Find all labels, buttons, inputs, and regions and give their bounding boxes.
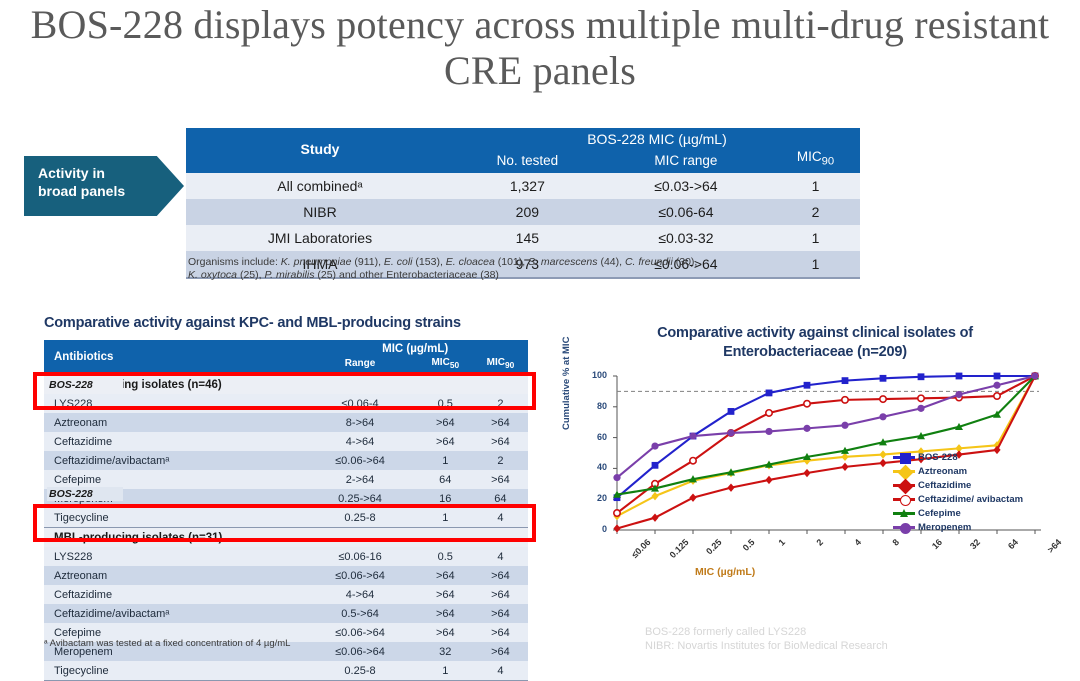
callout-line-2: broad panels <box>38 182 174 200</box>
legend-label: Cefepime <box>918 508 961 519</box>
mic50-cell: >64 <box>418 604 473 623</box>
slide-footer: BOS-228 formerly called LYS228 NIBR: Nov… <box>645 625 888 653</box>
legend-label: BOS-228 <box>918 452 958 463</box>
sticker-bos228-kpc: BOS-228 <box>47 378 123 392</box>
mic50-cell: >64 <box>418 585 473 604</box>
cumulative-mic-chart: Cumulative % at MIC MIC (µg/mL) 02040608… <box>575 368 1050 583</box>
legend-item: Meropenem <box>893 520 1023 534</box>
chart-y-axis-label: Cumulative % at MIC <box>561 337 572 430</box>
legend-swatch <box>893 456 915 459</box>
antibiotic-name-cell: Ceftazidime/avibactamᵃ <box>44 451 302 470</box>
mic50-cell: 0.5 <box>418 547 473 566</box>
legend-item: Ceftazidime <box>893 478 1023 492</box>
y-tick-label: 60 <box>583 432 607 442</box>
broad-panel-table-head: Study BOS-228 MIC (µg/mL) No. tested MIC… <box>186 128 860 173</box>
col-group-mic: MIC (µg/mL) <box>302 340 528 355</box>
legend-item: Cefepime <box>893 506 1023 520</box>
antibiotic-name-cell: Tigecycline <box>44 661 302 681</box>
mic90-cell: >64 <box>473 642 528 661</box>
mic90-cell: >64 <box>473 470 528 489</box>
legend-swatch <box>893 484 915 487</box>
study-cell: All combinedᵃ <box>186 173 454 199</box>
table-row: Aztreonam≤0.06->64>64>64 <box>44 566 528 585</box>
range-cell: ≤0.06->64 <box>302 566 417 585</box>
col-study: Study <box>186 128 454 173</box>
sticker-bos228-mbl: BOS-228 <box>47 487 123 501</box>
page-title: BOS-228 displays potency across multiple… <box>0 2 1080 94</box>
highlight-box-mbl-section <box>33 504 536 542</box>
legend-item: Aztreonam <box>893 464 1023 478</box>
study-cell: JMI Laboratories <box>186 225 454 251</box>
range-cell: 4->64 <box>302 585 417 604</box>
left-panel-heading: Comparative activity against KPC- and MB… <box>44 315 544 331</box>
study-cell: NIBR <box>186 199 454 225</box>
mic90-cell: 4 <box>473 547 528 566</box>
tested-cell: 145 <box>454 225 601 251</box>
mic50-cell: >64 <box>418 432 473 451</box>
table-row: JMI Laboratories145≤0.03-321 <box>186 225 860 251</box>
mic90-cell: >64 <box>473 623 528 642</box>
mic90-cell: >64 <box>473 413 528 432</box>
mic90-cell: >64 <box>473 604 528 623</box>
legend-label: Ceftazidime/ avibactam <box>918 494 1023 505</box>
chart-title-line-2: Enterobacteriaceae (n=209) <box>600 343 1030 362</box>
antibiotic-name-cell: Ceftazidime <box>44 432 302 451</box>
organisms-note-line-1: Organisms include: K. pneumoniae (911), … <box>188 256 828 269</box>
footer-line-1: BOS-228 formerly called LYS228 <box>645 625 888 639</box>
table-row: Tigecycline0.25-814 <box>44 661 528 681</box>
mic90-cell: 2 <box>473 451 528 470</box>
table-row: Ceftazidime/avibactamᵃ0.5->64>64>64 <box>44 604 528 623</box>
legend-label: Ceftazidime <box>918 480 971 491</box>
kpc-mbl-header-row-1: Antibiotics MIC (µg/mL) <box>44 340 528 355</box>
broad-panel-header-row-1: Study BOS-228 MIC (µg/mL) <box>186 128 860 147</box>
legend-label: Aztreonam <box>918 466 967 477</box>
mic50-cell: 32 <box>418 642 473 661</box>
kpc-mbl-table-head: Antibiotics MIC (µg/mL) Range MIC50 MIC9… <box>44 340 528 375</box>
legend-item: Ceftazidime/ avibactam <box>893 492 1023 506</box>
avibactam-footnote: ᵃ Avibactam was tested at a fixed concen… <box>44 638 290 649</box>
range-cell: ≤0.06->64 <box>302 623 417 642</box>
tested-cell: 209 <box>454 199 601 225</box>
range-cell: ≤0.06-16 <box>302 547 417 566</box>
table-row: Aztreonam8->64>64>64 <box>44 413 528 432</box>
range-cell: ≤0.03-32 <box>601 225 771 251</box>
range-cell: 0.25-8 <box>302 661 417 681</box>
mic90-cell: >64 <box>473 566 528 585</box>
y-tick-label: 40 <box>583 462 607 472</box>
range-cell: 2->64 <box>302 470 417 489</box>
mic90-cell: 1 <box>771 173 860 199</box>
antibiotic-name-cell: Ceftazidime <box>44 585 302 604</box>
callout-line-1: Activity in <box>38 164 174 182</box>
col-mic-range: MIC range <box>601 147 771 173</box>
y-tick-label: 20 <box>583 493 607 503</box>
organisms-note-line-2: K. oxytoca (25), P. mirabilis (25) and o… <box>188 269 828 282</box>
mic90-cell: >64 <box>473 585 528 604</box>
table-row: NIBR209≤0.06-642 <box>186 199 860 225</box>
mic50-cell: >64 <box>418 413 473 432</box>
chart-legend: BOS-228AztreonamCeftazidimeCeftazidime/ … <box>893 450 1023 534</box>
legend-label: Meropenem <box>918 522 971 533</box>
mic50-cell: >64 <box>418 566 473 585</box>
callout-badge-activity-broad-panels: Activity in broad panels <box>24 156 184 216</box>
mic50-cell: 1 <box>418 451 473 470</box>
antibiotic-name-cell: LYS228 <box>44 547 302 566</box>
tested-cell: 1,327 <box>454 173 601 199</box>
y-tick-label: 80 <box>583 401 607 411</box>
chart-title: Comparative activity against clinical is… <box>600 324 1030 362</box>
y-tick-label: 0 <box>583 524 607 534</box>
footer-line-2: NIBR: Novartis Institutes for BioMedical… <box>645 639 888 653</box>
legend-swatch <box>893 470 915 473</box>
legend-marker <box>900 495 911 506</box>
range-cell: ≤0.03->64 <box>601 173 771 199</box>
range-cell: 8->64 <box>302 413 417 432</box>
mic50-cell: >64 <box>418 623 473 642</box>
mic90-cell: 2 <box>771 199 860 225</box>
col-mic90: MIC90 <box>771 147 860 173</box>
range-cell: 0.5->64 <box>302 604 417 623</box>
organisms-note: Organisms include: K. pneumoniae (911), … <box>188 256 828 282</box>
antibiotic-name-cell: Ceftazidime/avibactamᵃ <box>44 604 302 623</box>
legend-marker <box>900 453 911 464</box>
antibiotic-name-cell: Aztreonam <box>44 413 302 432</box>
y-tick-label: 100 <box>583 370 607 380</box>
table-row: Ceftazidime/avibactamᵃ≤0.06->6412 <box>44 451 528 470</box>
mic50-cell: 1 <box>418 661 473 681</box>
range-cell: ≤0.06->64 <box>302 642 417 661</box>
legend-item: BOS-228 <box>893 450 1023 464</box>
mic90-cell: >64 <box>473 432 528 451</box>
chart-title-line-1: Comparative activity against clinical is… <box>600 324 1030 343</box>
legend-swatch <box>893 498 915 501</box>
mic90-cell: 1 <box>771 225 860 251</box>
range-cell: 4->64 <box>302 432 417 451</box>
col-group-bos228-mic: BOS-228 MIC (µg/mL) <box>454 128 860 147</box>
table-row: All combinedᵃ1,327≤0.03->641 <box>186 173 860 199</box>
legend-swatch <box>893 526 915 529</box>
col-no-tested: No. tested <box>454 147 601 173</box>
legend-marker <box>900 509 908 517</box>
col-antibiotics: Antibiotics <box>44 340 302 375</box>
table-row: LYS228≤0.06-160.54 <box>44 547 528 566</box>
range-cell: ≤0.06-64 <box>601 199 771 225</box>
mic90-cell: 4 <box>473 661 528 681</box>
chart-x-axis-label: MIC (µg/mL) <box>695 566 755 578</box>
table-row: Ceftazidime4->64>64>64 <box>44 585 528 604</box>
legend-swatch <box>893 512 915 515</box>
mic50-cell: 64 <box>418 470 473 489</box>
table-row: Ceftazidime4->64>64>64 <box>44 432 528 451</box>
range-cell: ≤0.06->64 <box>302 451 417 470</box>
antibiotic-name-cell: Aztreonam <box>44 566 302 585</box>
legend-marker <box>900 523 911 534</box>
